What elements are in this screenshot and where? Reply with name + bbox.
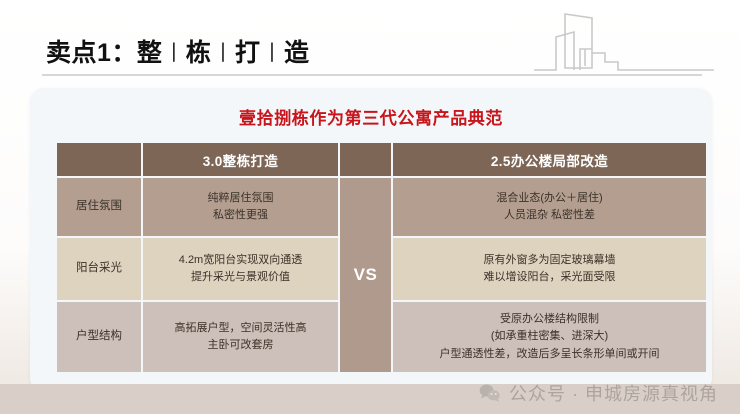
header-cell-col-b: 2.5办公楼局部改造: [393, 143, 706, 176]
table-row: 居住氛围 纯粹居住氛围 私密性更强 VS 混合业态(办公＋居住) 人员混杂 私密…: [57, 178, 706, 236]
slide-page: 卖点1：整丨栋丨打丨造 壹拾捌栋作为第三代公寓产品典范: [0, 0, 740, 414]
row-1-col-a-line-2: 私密性更强: [149, 207, 332, 224]
row-3-col-a: 高拓展户型，空间灵活性高 主卧可改套房: [143, 302, 338, 372]
row-2-col-a-line-2: 提升采光与景观价值: [149, 269, 332, 286]
row-label-3: 户型结构: [57, 302, 141, 372]
row-3-col-b-line-3: 户型通透性差，改造后多呈长条形单间或开间: [399, 346, 700, 363]
row-1-col-b: 混合业态(办公＋居住) 人员混杂 私密性差: [393, 178, 706, 236]
row-2-col-b-line-1: 原有外窗多为固定玻璃幕墙: [399, 252, 700, 269]
row-3-col-a-line-2: 主卧可改套房: [149, 337, 332, 354]
page-title-word-3: 打: [235, 39, 261, 67]
vs-badge: VS: [340, 178, 391, 372]
row-1-col-a-line-1: 纯粹居住氛围: [149, 190, 332, 207]
title-separator-3: 丨: [260, 42, 284, 65]
row-2-col-a: 4.2m宽阳台实现双向通透 提升采光与景观价值: [143, 238, 338, 300]
watermark: 公众号 · 申城房源真视角: [479, 380, 718, 406]
card-heading: 壹拾捌栋作为第三代公寓产品典范: [30, 104, 712, 129]
page-title-prefix: 卖点1：: [46, 39, 137, 67]
row-1-col-a: 纯粹居住氛围 私密性更强: [143, 178, 338, 236]
page-title: 卖点1：整丨栋丨打丨造: [46, 33, 309, 69]
page-title-word-1: 整: [137, 39, 163, 67]
page-title-word-2: 栋: [186, 39, 212, 67]
title-separator-1: 丨: [162, 42, 186, 65]
table-header-row: 3.0整栋打造 2.5办公楼局部改造: [57, 143, 706, 176]
title-separator-2: 丨: [211, 42, 235, 65]
building-skyline-icon: [534, 4, 714, 76]
row-2-col-b: 原有外窗多为固定玻璃幕墙 难以增设阳台，采光面受限: [393, 238, 706, 300]
row-2-col-b-line-2: 难以增设阳台，采光面受限: [399, 269, 700, 286]
row-3-col-b-line-2: (如承重柱密集、进深大): [399, 328, 700, 345]
row-1-col-b-line-2: 人员混杂 私密性差: [399, 207, 700, 224]
comparison-card: 壹拾捌栋作为第三代公寓产品典范 3.0整栋打造 2.5办公楼局部改造 居住氛围: [30, 88, 712, 392]
watermark-text: 公众号 · 申城房源真视角: [509, 380, 718, 406]
row-label-1: 居住氛围: [57, 178, 141, 236]
row-1-col-b-line-1: 混合业态(办公＋居住): [399, 190, 700, 207]
row-2-col-a-line-1: 4.2m宽阳台实现双向通透: [149, 252, 332, 269]
row-label-2: 阳台采光: [57, 238, 141, 300]
row-3-col-b-line-1: 受原办公楼结构限制: [399, 311, 700, 328]
row-3-col-a-line-1: 高拓展户型，空间灵活性高: [149, 320, 332, 337]
row-3-col-b: 受原办公楼结构限制 (如承重柱密集、进深大) 户型通透性差，改造后多呈长条形单间…: [393, 302, 706, 372]
page-title-word-4: 造: [284, 39, 310, 67]
header-cell-label: [57, 143, 141, 176]
title-area: 卖点1：整丨栋丨打丨造: [0, 0, 740, 86]
wechat-icon: [479, 383, 501, 403]
comparison-table: 3.0整栋打造 2.5办公楼局部改造 居住氛围 纯粹居住氛围 私密性更强 VS …: [55, 141, 708, 374]
header-cell-vs: [340, 143, 391, 176]
header-cell-col-a: 3.0整栋打造: [143, 143, 338, 176]
